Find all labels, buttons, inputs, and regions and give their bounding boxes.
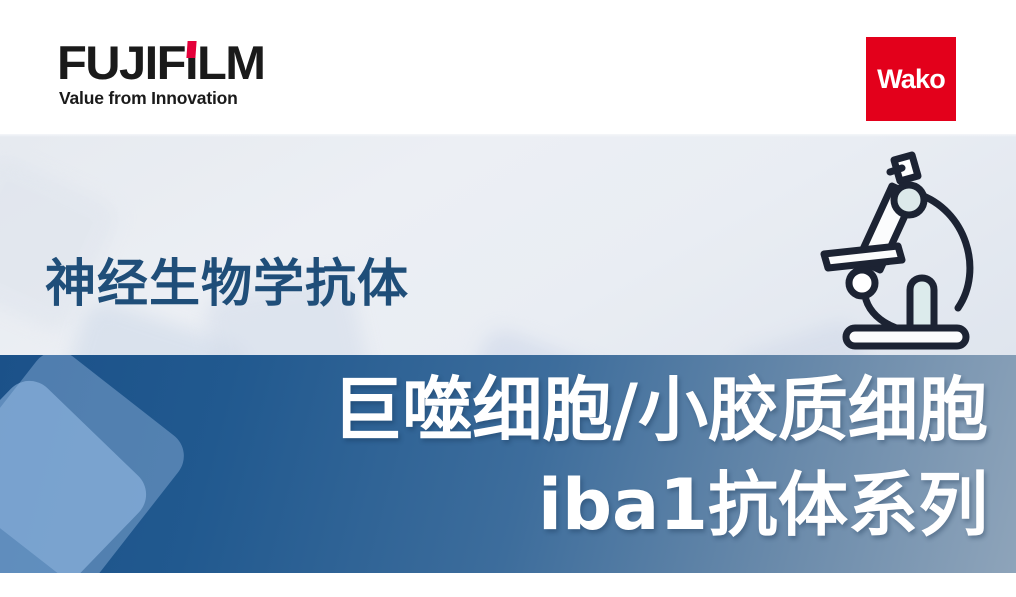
decor-square-soft-3	[430, 324, 645, 355]
wako-logo-label: Wako	[877, 66, 945, 93]
header-bar: FUJIFILM Value from Innovation Wako	[0, 0, 1016, 134]
banner-lower: 巨噬细胞/小胶质细胞 iba1抗体系列	[0, 355, 1016, 573]
microscope-icon	[806, 142, 1006, 357]
wako-logo: Wako	[866, 37, 956, 121]
promo-poster: FUJIFILM Value from Innovation Wako 神经生物…	[0, 0, 1016, 597]
fujifilm-wordmark: FUJIFILM	[57, 38, 307, 88]
fujifilm-tagline: Value from Innovation	[59, 88, 238, 109]
category-label: 神经生物学抗体	[45, 256, 409, 314]
title-line-1: 巨噬细胞/小胶质细胞	[332, 370, 988, 450]
fujifilm-logo: FUJIFILM Value from Innovation	[57, 38, 297, 110]
footer-spacer	[0, 573, 1016, 597]
fujifilm-red-dot-icon	[186, 41, 196, 58]
title-line-2: iba1抗体系列	[538, 465, 988, 545]
